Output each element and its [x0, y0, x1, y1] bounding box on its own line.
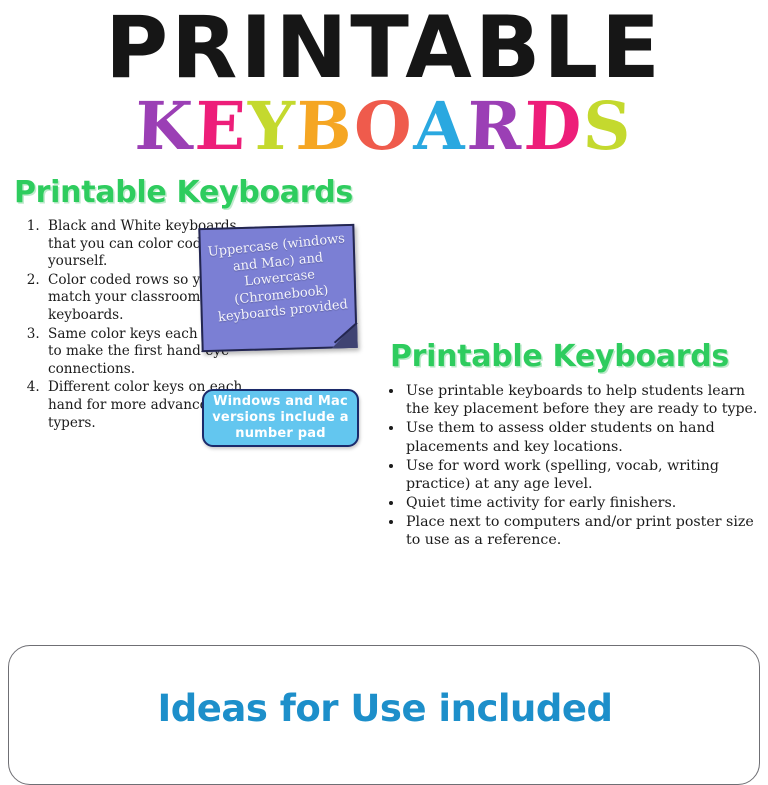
bottom-panel: Ideas for Use included	[8, 645, 760, 785]
right-section-heading: Printable Keyboards	[390, 340, 760, 374]
title-letter-3: B	[295, 90, 355, 162]
list-item: Use them to assess older students on han…	[404, 419, 760, 456]
title-letter-6: R	[466, 90, 525, 162]
blue-callout-number-pad: Windows and Mac versions include a numbe…	[202, 389, 359, 447]
list-item: Quiet time activity for early finishers.	[404, 494, 760, 512]
sticky-note-text: Uppercase (windows and Mac) and Lowercas…	[202, 231, 358, 328]
main-title: PRINTABLE	[0, 2, 768, 94]
title-letter-5: A	[412, 90, 468, 162]
title-block: PRINTABLE KEYBOARDS	[0, 0, 768, 175]
title-letter-7: D	[522, 90, 584, 162]
left-section-heading: Printable Keyboards	[14, 176, 374, 210]
ideas-bullet-list: Use printable keyboards to help students…	[388, 382, 760, 550]
sticky-note-uppercase-lowercase: Uppercase (windows and Mac) and Lowercas…	[198, 224, 357, 352]
list-item: Use printable keyboards to help students…	[404, 382, 760, 419]
blue-callout-text: Windows and Mac versions include a numbe…	[204, 394, 357, 442]
right-column: Printable Keyboards Use printable keyboa…	[388, 340, 760, 550]
title-letter-1: E	[194, 90, 249, 162]
list-item: Place next to computers and/or print pos…	[404, 513, 760, 550]
list-item: Use for word work (spelling, vocab, writ…	[404, 457, 760, 494]
sub-title: KEYBOARDS	[0, 90, 768, 162]
title-letter-8: S	[582, 90, 634, 162]
title-letter-0: K	[134, 90, 196, 162]
bottom-panel-text: Ideas for Use included	[9, 688, 761, 730]
title-letter-4: O	[353, 90, 415, 162]
title-letter-2: Y	[246, 90, 298, 162]
